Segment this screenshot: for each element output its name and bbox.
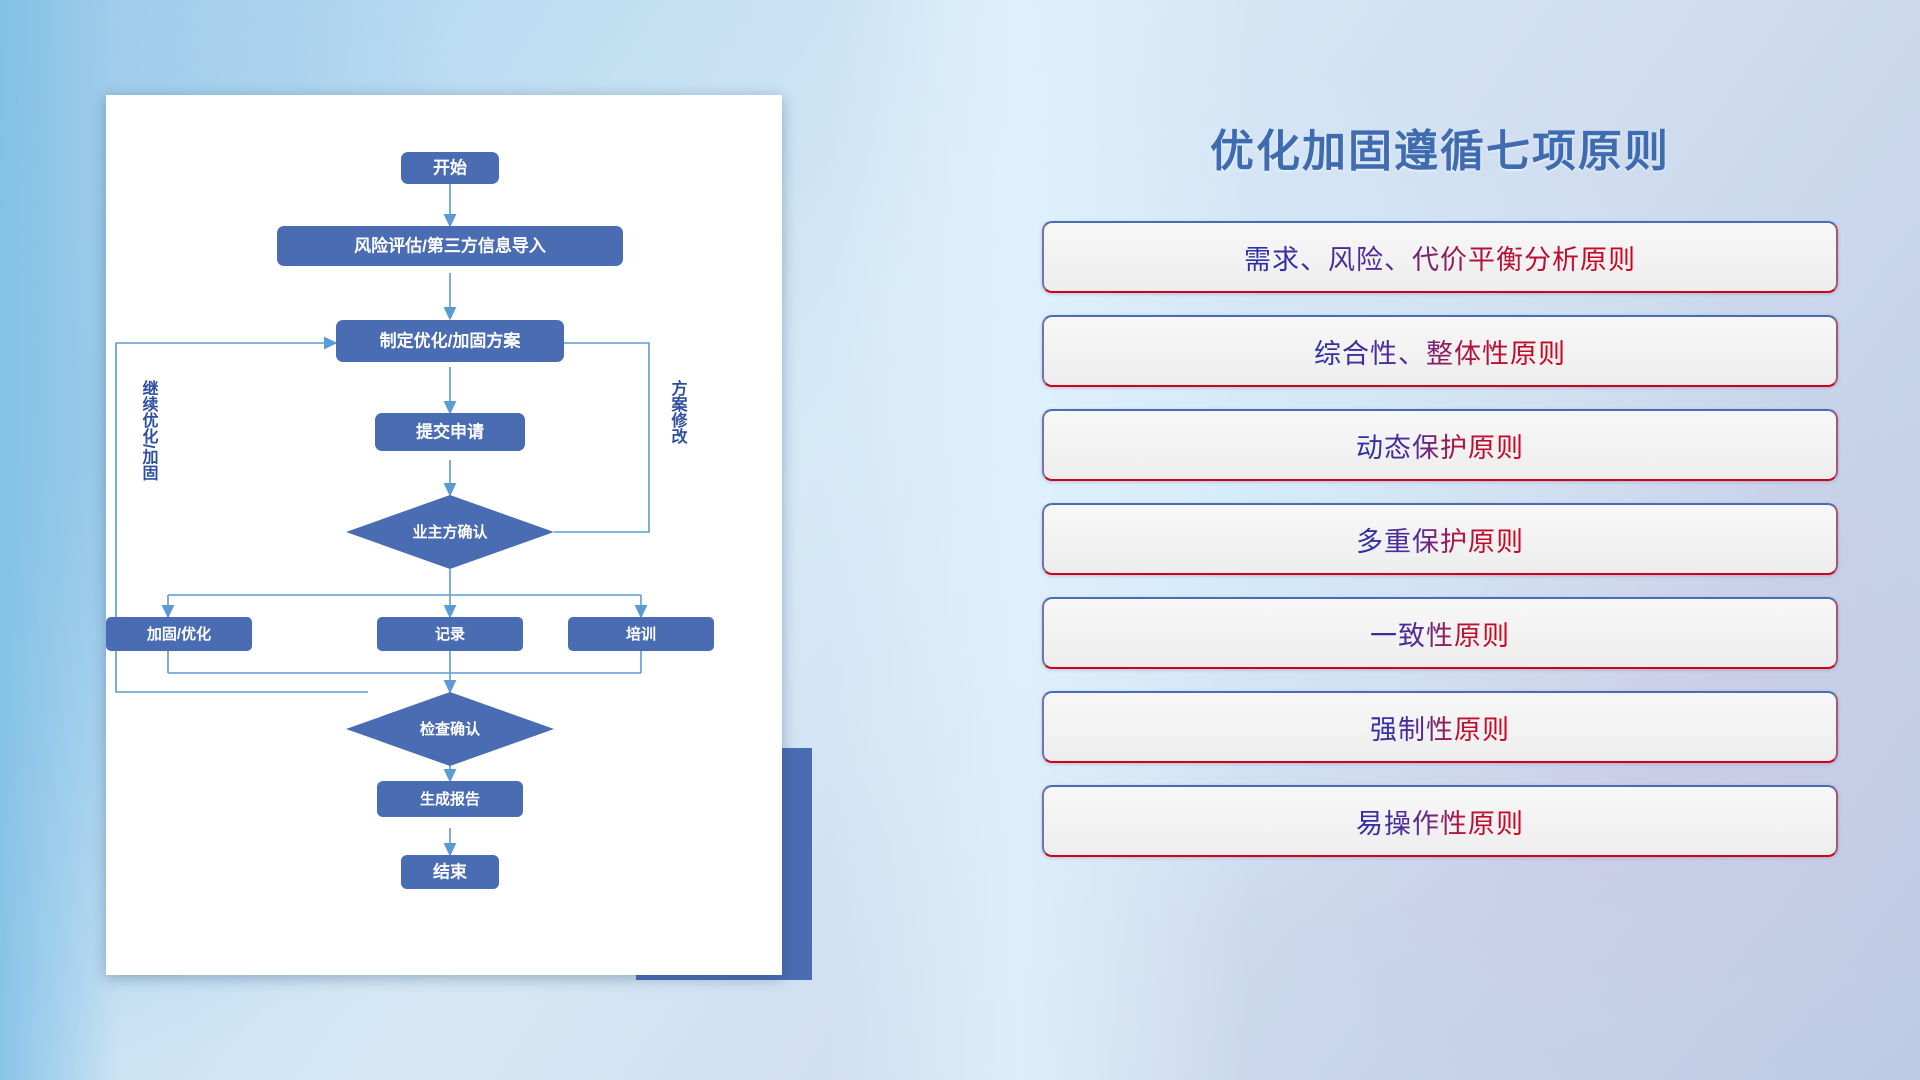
node-record-label: 记录: [435, 626, 465, 643]
principle-label: 易操作性原则: [1356, 802, 1524, 841]
node-submit[interactable]: 提交申请: [375, 413, 525, 451]
node-check-confirm-label: 检查确认: [420, 720, 481, 738]
principle-label: 强制性原则: [1370, 708, 1510, 747]
node-plan-label: 制定优化/加固方案: [380, 330, 522, 350]
principle-label: 一致性原则: [1370, 614, 1510, 653]
principle-label: 需求、风险、代价平衡分析原则: [1244, 238, 1636, 277]
principle-card-4[interactable]: 多重保护原则: [1042, 503, 1838, 575]
flowchart-canvas: 开始 风险评估/第三方信息导入 制定优化/加固方案 提交申请 业主方确认 加固/…: [106, 95, 782, 975]
principle-card-2[interactable]: 综合性、整体性原则: [1042, 315, 1838, 387]
node-check-confirm[interactable]: 检查确认: [346, 692, 554, 766]
background-left-streak: [0, 0, 120, 1080]
principles-list: 需求、风险、代价平衡分析原则 综合性、整体性原则 动态保护原则 多重保护原则 一…: [1020, 221, 1860, 857]
principle-card-1[interactable]: 需求、风险、代价平衡分析原则: [1042, 221, 1838, 293]
node-plan[interactable]: 制定优化/加固方案: [336, 320, 564, 362]
node-training-label: 培训: [626, 625, 656, 643]
node-owner-confirm[interactable]: 业主方确认: [346, 495, 554, 569]
node-start[interactable]: 开始: [401, 152, 499, 184]
edge-label-continue-optimize: 继续优化/加固: [140, 379, 160, 481]
principle-card-3[interactable]: 动态保护原则: [1042, 409, 1838, 481]
principle-card-6[interactable]: 强制性原则: [1042, 691, 1838, 763]
principle-card-7[interactable]: 易操作性原则: [1042, 785, 1838, 857]
node-report-label: 生成报告: [420, 790, 480, 808]
panel-title: 优化加固遵循七项原则: [1020, 115, 1860, 179]
node-report[interactable]: 生成报告: [377, 781, 523, 817]
flowchart-card: 开始 风险评估/第三方信息导入 制定优化/加固方案 提交申请 业主方确认 加固/…: [106, 95, 782, 975]
node-reinforce[interactable]: 加固/优化: [106, 617, 252, 651]
node-reinforce-label: 加固/优化: [146, 625, 211, 643]
principles-panel: 优化加固遵循七项原则 需求、风险、代价平衡分析原则 综合性、整体性原则 动态保护…: [1020, 95, 1860, 995]
edge-label-plan-revise: 方案修改: [669, 379, 689, 445]
principle-label: 综合性、整体性原则: [1314, 332, 1566, 371]
node-risk-label: 风险评估/第三方信息导入: [354, 235, 546, 255]
node-end[interactable]: 结束: [401, 855, 499, 889]
node-owner-confirm-label: 业主方确认: [412, 523, 488, 541]
principle-label: 动态保护原则: [1356, 426, 1524, 465]
node-start-label: 开始: [433, 157, 467, 177]
node-risk-assessment[interactable]: 风险评估/第三方信息导入: [277, 226, 623, 266]
principle-label: 多重保护原则: [1356, 520, 1524, 559]
node-end-label: 结束: [433, 861, 467, 881]
principle-card-5[interactable]: 一致性原则: [1042, 597, 1838, 669]
node-submit-label: 提交申请: [416, 421, 484, 441]
node-record[interactable]: 记录: [377, 617, 523, 651]
node-training[interactable]: 培训: [568, 617, 714, 651]
